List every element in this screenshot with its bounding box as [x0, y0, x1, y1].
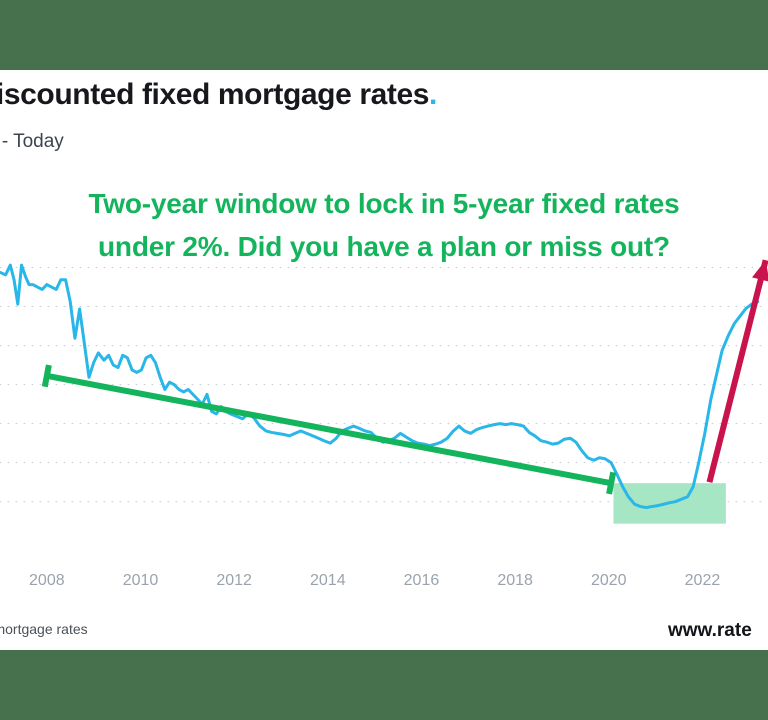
rate-chart — [0, 248, 768, 570]
chart-x-axis: 20082010201220142016201820202022 — [0, 572, 768, 596]
arrow-tail-cap — [45, 365, 49, 387]
chart-gridlines — [0, 268, 768, 502]
x-axis-tick-label: 2008 — [29, 572, 65, 590]
x-axis-tick-label: 2018 — [497, 572, 533, 590]
headline-callout: Two-year window to lock in 5-year fixed … — [0, 182, 768, 268]
headline-line-1: Two-year window to lock in 5-year fixed … — [88, 188, 679, 219]
arrow-head-cap — [609, 472, 613, 494]
brand-bar-top — [0, 0, 768, 70]
brand-bar-bottom — [0, 650, 768, 720]
x-axis-tick-label: 2022 — [685, 572, 721, 590]
page-subtitle: 6 - Today — [0, 131, 64, 153]
x-axis-tick-label: 2020 — [591, 572, 627, 590]
title-accent-dot: . — [429, 78, 437, 111]
x-axis-tick-label: 2016 — [404, 572, 440, 590]
headline-line-2: under 2%. Did you have a plan or miss ou… — [0, 225, 768, 268]
x-axis-tick-label: 2010 — [123, 572, 159, 590]
slide-canvas: discounted fixed mortgage rates. 6 - Tod… — [0, 0, 768, 720]
x-axis-tick-label: 2012 — [216, 572, 252, 590]
x-axis-tick-label: 2014 — [310, 572, 346, 590]
chart-svg — [0, 248, 768, 570]
site-watermark: www.rate — [668, 620, 752, 642]
chart-annotation-group — [45, 260, 768, 494]
page-title-text: discounted fixed mortgage rates — [0, 78, 429, 111]
page-title: discounted fixed mortgage rates. — [0, 78, 437, 112]
source-note: ed mortgage rates — [0, 621, 88, 637]
